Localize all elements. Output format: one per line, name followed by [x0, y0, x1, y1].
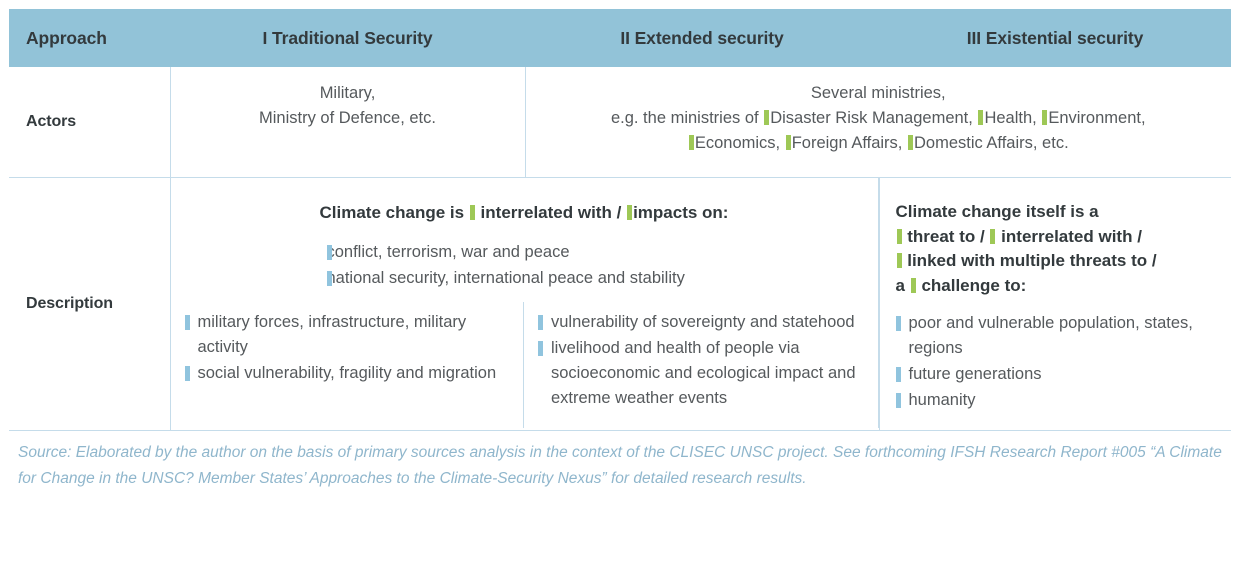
description-span-bullet-list: conflict, terrorism, war and peace natio… — [171, 240, 879, 302]
actors-ministries-line2: e.g. the ministries of Disaster Risk Man… — [542, 106, 1216, 131]
list-item-label: national security, international peace a… — [327, 269, 685, 287]
col3-heading-sep1: / — [980, 227, 985, 246]
description-extended-bullets: vulnerability of sovereignty and stateho… — [524, 302, 878, 428]
actors-ministry-health: Health, — [984, 109, 1036, 127]
list-item-label: livelihood and health of people via soci… — [551, 339, 856, 407]
actors-ministry-foreign-affairs: Foreign Affairs, — [792, 134, 903, 152]
marker-green-icon — [786, 135, 791, 150]
description-existential-cell: Climate change itself is a threat to / i… — [879, 178, 1231, 430]
row-label-actors: Actors — [9, 67, 170, 178]
actors-traditional-cell: Military, Ministry of Defence, etc. — [170, 67, 525, 178]
list-item-label: humanity — [909, 391, 976, 409]
description-span-heading: Climate change is interrelated with / im… — [171, 178, 879, 240]
marker-blue-icon — [327, 245, 332, 260]
list-item-label: vulnerability of sovereignty and stateho… — [551, 313, 855, 331]
list-item: social vulnerability, fragility and migr… — [185, 361, 510, 386]
header-approach: Approach — [9, 9, 170, 67]
description-heading-option-interrelated: interrelated with — [481, 203, 612, 222]
col3-heading-threat-to: threat to — [907, 227, 975, 246]
marker-blue-icon — [185, 315, 190, 330]
list-item-label: military forces, infrastructure, militar… — [198, 313, 467, 356]
list-item: military forces, infrastructure, militar… — [185, 310, 510, 360]
col3-heading-article: a — [896, 276, 905, 295]
description-heading-separator: / — [617, 203, 622, 222]
list-item: humanity — [896, 388, 1218, 413]
list-item-label: future generations — [909, 365, 1042, 383]
description-col3-heading: Climate change itself is a threat to / i… — [896, 200, 1218, 299]
description-existential-bullets: poor and vulnerable population, states, … — [896, 311, 1218, 413]
table-row-description: Description Climate change is interrelat… — [9, 178, 1231, 430]
marker-green-icon — [908, 135, 913, 150]
list-item: vulnerability of sovereignty and stateho… — [538, 310, 864, 335]
col3-heading-sep3: / — [1152, 251, 1157, 270]
col3-heading-interrelated-with: interrelated with — [1001, 227, 1132, 246]
col3-heading-sep2: / — [1137, 227, 1142, 246]
list-item: conflict, terrorism, war and peace — [179, 240, 870, 265]
actors-traditional-line1: Military, — [181, 81, 515, 106]
description-heading-option-impacts: impacts on: — [633, 203, 728, 222]
col3-heading-line1: Climate change itself is a — [896, 202, 1099, 221]
approaches-table: Approach I Traditional Security II Exten… — [9, 9, 1231, 430]
row-label-description: Description — [9, 178, 170, 430]
list-item-label: conflict, terrorism, war and peace — [327, 243, 570, 261]
actors-ministry-disaster-risk: Disaster Risk Management, — [770, 109, 973, 127]
marker-green-icon — [978, 110, 983, 125]
actors-several-ministries: Several ministries, — [542, 81, 1216, 106]
marker-green-icon — [689, 135, 694, 150]
list-item-label: social vulnerability, fragility and migr… — [198, 364, 497, 382]
header-existential-security: III Existential security — [879, 9, 1231, 67]
table-row-actors: Actors Military, Ministry of Defence, et… — [9, 67, 1231, 178]
list-item: future generations — [896, 362, 1218, 387]
actors-traditional-line2: Ministry of Defence, etc. — [181, 106, 515, 131]
table-header-row: Approach I Traditional Security II Exten… — [9, 9, 1231, 67]
description-col12-cell: Climate change is interrelated with / im… — [170, 178, 879, 430]
marker-blue-icon — [896, 316, 901, 331]
actors-ministries-line3: Economics, Foreign Affairs, Domestic Aff… — [542, 131, 1216, 156]
actors-ministry-economics: Economics, — [695, 134, 780, 152]
marker-green-icon — [897, 253, 902, 268]
marker-blue-icon — [327, 271, 332, 286]
marker-blue-icon — [538, 315, 543, 330]
list-item: national security, international peace a… — [179, 266, 870, 291]
table-figure: Approach I Traditional Security II Exten… — [0, 0, 1240, 577]
marker-blue-icon — [896, 393, 901, 408]
marker-green-icon — [990, 229, 995, 244]
col3-heading-challenge-to: challenge to: — [921, 276, 1026, 295]
marker-blue-icon — [896, 367, 901, 382]
actors-ministry-environment: Environment, — [1048, 109, 1145, 127]
list-item: livelihood and health of people via soci… — [538, 336, 864, 411]
col3-heading-linked-with: linked with multiple threats to — [907, 251, 1147, 270]
list-item-label: poor and vulnerable population, states, … — [909, 314, 1193, 357]
marker-green-icon — [764, 110, 769, 125]
description-traditional-bullets: military forces, infrastructure, militar… — [171, 302, 525, 428]
description-heading-lead: Climate change is — [320, 203, 465, 222]
marker-green-icon — [627, 205, 632, 220]
marker-green-icon — [897, 229, 902, 244]
marker-green-icon — [470, 205, 475, 220]
list-item: poor and vulnerable population, states, … — [896, 311, 1218, 361]
actors-ministry-domestic-affairs: Domestic Affairs, etc. — [914, 134, 1069, 152]
marker-green-icon — [911, 278, 916, 293]
marker-green-icon — [1042, 110, 1047, 125]
header-extended-security: II Extended security — [525, 9, 879, 67]
actors-ministries-prefix: e.g. the ministries of — [611, 109, 763, 127]
description-two-column-area: military forces, infrastructure, militar… — [171, 302, 879, 428]
marker-blue-icon — [185, 366, 190, 381]
actors-extended-existential-cell: Several ministries, e.g. the ministries … — [525, 67, 1231, 178]
source-caption: Source: Elaborated by the author on the … — [9, 431, 1231, 492]
header-traditional-security: I Traditional Security — [170, 9, 525, 67]
marker-blue-icon — [538, 341, 543, 356]
